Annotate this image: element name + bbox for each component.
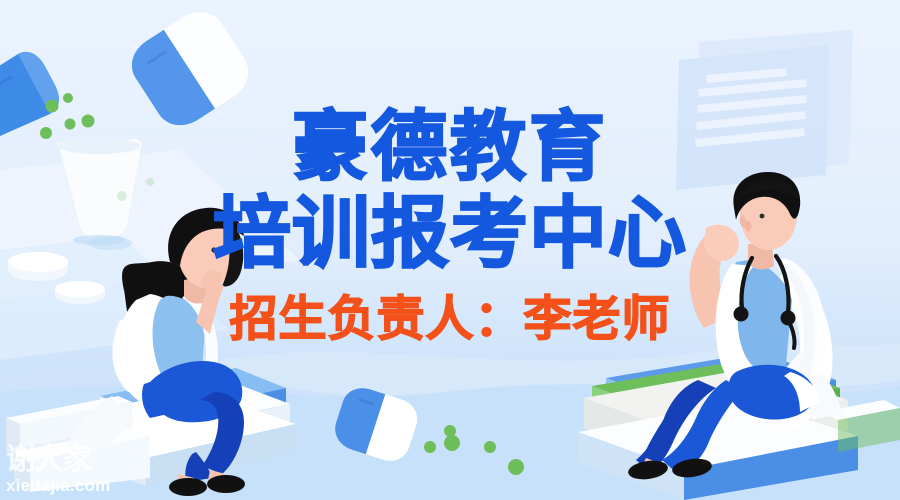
watermark-logo: 谢大家 — [6, 445, 110, 475]
green-granules-bottom — [424, 425, 524, 475]
watermark-url: xiedajia.com — [6, 477, 110, 494]
headline-line-1: 豪德教育 — [0, 110, 900, 186]
headline-line-2: 培训报考中心 — [0, 194, 900, 272]
stacked-books-right — [578, 352, 900, 500]
stacked-books-left — [6, 368, 296, 492]
headline-line-3: 招生负责人：李老师 — [0, 296, 900, 344]
promo-banner: 豪德教育 培训报考中心 招生负责人：李老师 谢大家 xiedajia.com — [0, 0, 900, 500]
capsule-bottom-center — [330, 383, 423, 467]
watermark: 谢大家 xiedajia.com — [6, 445, 110, 494]
